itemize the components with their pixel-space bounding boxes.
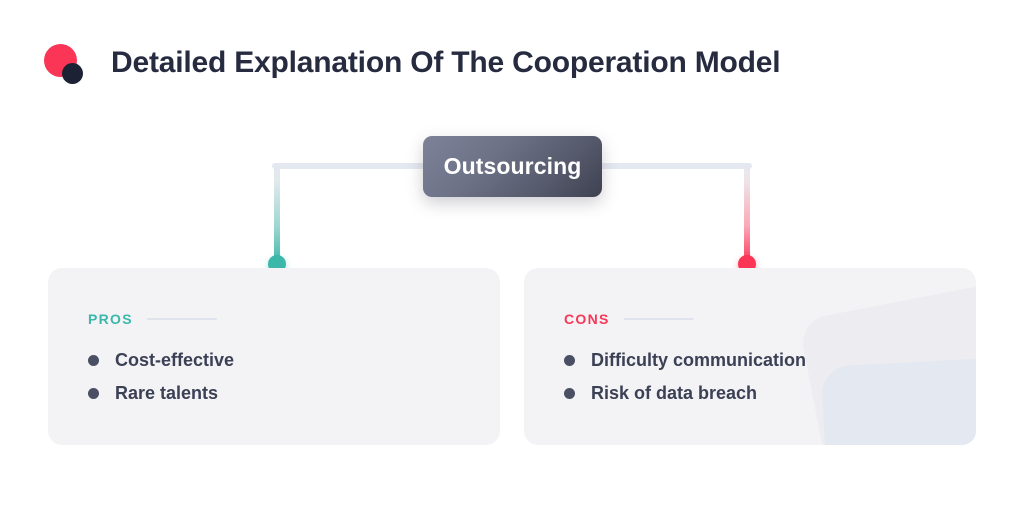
card-pros: PROS Cost-effective Rare talents [48, 268, 500, 445]
card-cons-list: Difficulty communication Risk of data br… [564, 350, 806, 416]
connector-stem-pros [274, 163, 280, 264]
slide-canvas: Detailed Explanation Of The Cooperation … [0, 0, 1024, 507]
card-cons-heading: CONS [564, 311, 610, 327]
list-item-label: Risk of data breach [591, 383, 757, 404]
page-title: Detailed Explanation Of The Cooperation … [111, 46, 780, 80]
list-item: Difficulty communication [564, 350, 806, 371]
list-item: Cost-effective [88, 350, 234, 371]
card-cons: CONS Difficulty communication Risk of da… [524, 268, 976, 445]
card-cons-heading-rule [624, 318, 694, 320]
card-pros-heading-rule [147, 318, 217, 320]
card-pros-list: Cost-effective Rare talents [88, 350, 234, 416]
connector-stem-cons [744, 163, 750, 264]
card-pros-heading-row: PROS [88, 311, 217, 327]
list-item-label: Cost-effective [115, 350, 234, 371]
list-item-label: Difficulty communication [591, 350, 806, 371]
brand-logo [44, 44, 92, 92]
node-outsourcing-label: Outsourcing [444, 153, 582, 180]
list-item-label: Rare talents [115, 383, 218, 404]
bullet-dot-icon [88, 355, 99, 366]
node-outsourcing[interactable]: Outsourcing [423, 136, 602, 197]
list-item: Risk of data breach [564, 383, 806, 404]
decorative-shape-front [821, 353, 976, 445]
bullet-dot-icon [88, 388, 99, 399]
logo-secondary-circle-icon [62, 63, 83, 84]
decorative-shape-back [798, 270, 976, 445]
list-item: Rare talents [88, 383, 234, 404]
card-cons-heading-row: CONS [564, 311, 694, 327]
card-pros-heading: PROS [88, 311, 133, 327]
bullet-dot-icon [564, 355, 575, 366]
bullet-dot-icon [564, 388, 575, 399]
